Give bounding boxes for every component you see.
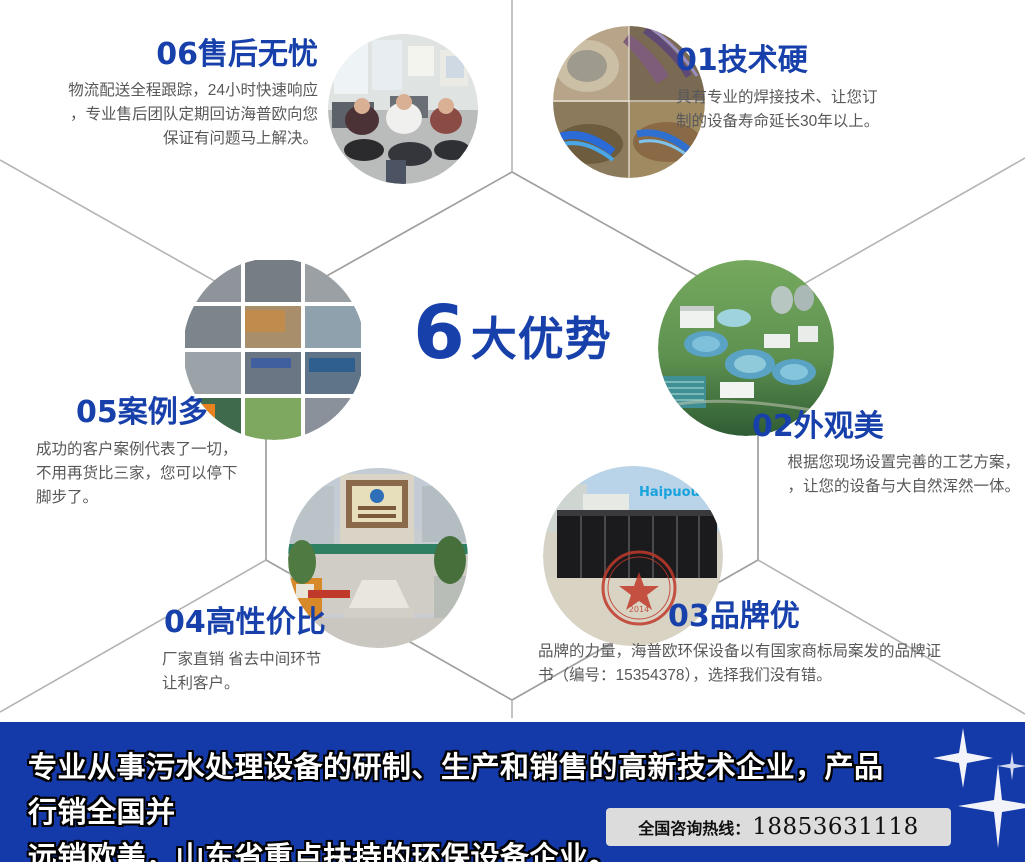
advantage-02-label: 外观美	[794, 410, 884, 443]
advantage-06: 06售后无忧 物流配送全程跟踪，24小时快速响应 ，专业售后团队定期回访海普欧向…	[8, 40, 318, 151]
center-suffix: 大优势	[471, 313, 612, 365]
advantage-06-number: 06	[156, 37, 198, 72]
advantage-04: 04高性价比 厂家直销 省去中间环节 让利客户。	[128, 608, 428, 696]
advantage-02-number: 02	[752, 409, 794, 444]
advantages-infographic: Haipuou 2014 06售后无忧 物流配送全程跟踪，24小时快速响应 ，专…	[0, 0, 1025, 862]
office-team-photo	[328, 34, 478, 184]
advantage-06-desc: 物流配送全程跟踪，24小时快速响应 ，专业售后团队定期回访海普欧向您 保证有问题…	[8, 79, 318, 151]
center-number: 6	[413, 290, 465, 376]
center-headline: 6大优势	[0, 296, 1025, 370]
advantage-03-title: 03品牌优	[668, 602, 1008, 632]
advantage-05-desc: 成功的客户案例代表了一切， 不用再货比三家，您可以停下 脚步了。	[36, 438, 336, 510]
advantage-03: 03品牌优 品牌的力量，海普欧环保设备以有国家商标局案发的品牌证 书（编号：15…	[538, 602, 1008, 688]
advantage-01: 01技术硬 具有专业的焊接技术、让您订 制的设备寿命延长30年以上。	[676, 46, 996, 134]
advantage-04-title: 04高性价比	[164, 608, 428, 638]
advantage-01-desc: 具有专业的焊接技术、让您订 制的设备寿命延长30年以上。	[676, 86, 996, 134]
advantage-02-desc: 根据您现场设置完善的工艺方案， ，让您的设备与大自然浑然一体。	[690, 451, 1020, 499]
hotline-box[interactable]: 全国咨询热线： 18853631118	[606, 808, 951, 846]
advantage-03-number: 03	[668, 599, 710, 634]
advantage-04-desc: 厂家直销 省去中间环节 让利客户。	[162, 648, 428, 696]
hotline-number: 18853631118	[752, 814, 918, 840]
advantage-03-label: 品牌优	[710, 600, 800, 633]
hotline-label: 全国咨询热线：	[638, 815, 750, 839]
advantage-01-label: 技术硬	[718, 44, 808, 77]
advantage-06-label: 售后无忧	[198, 38, 318, 71]
advantage-01-number: 01	[676, 43, 718, 78]
advantage-04-label: 高性价比	[206, 606, 326, 639]
advantage-05-label: 案例多	[118, 396, 208, 429]
advantage-05-number: 05	[76, 395, 118, 430]
advantage-01-title: 01技术硬	[676, 46, 996, 76]
advantage-05-title: 05案例多	[76, 398, 336, 428]
advantage-06-title: 06售后无忧	[8, 40, 318, 70]
advantage-02: 02外观美 根据您现场设置完善的工艺方案， ，让您的设备与大自然浑然一体。	[690, 412, 1020, 499]
advantage-02-title: 02外观美	[752, 412, 1020, 442]
advantage-05: 05案例多 成功的客户案例代表了一切， 不用再货比三家，您可以停下 脚步了。	[36, 398, 336, 510]
advantage-03-desc: 品牌的力量，海普欧环保设备以有国家商标局案发的品牌证 书（编号：15354378…	[538, 640, 1008, 688]
advantage-04-number: 04	[164, 605, 206, 640]
